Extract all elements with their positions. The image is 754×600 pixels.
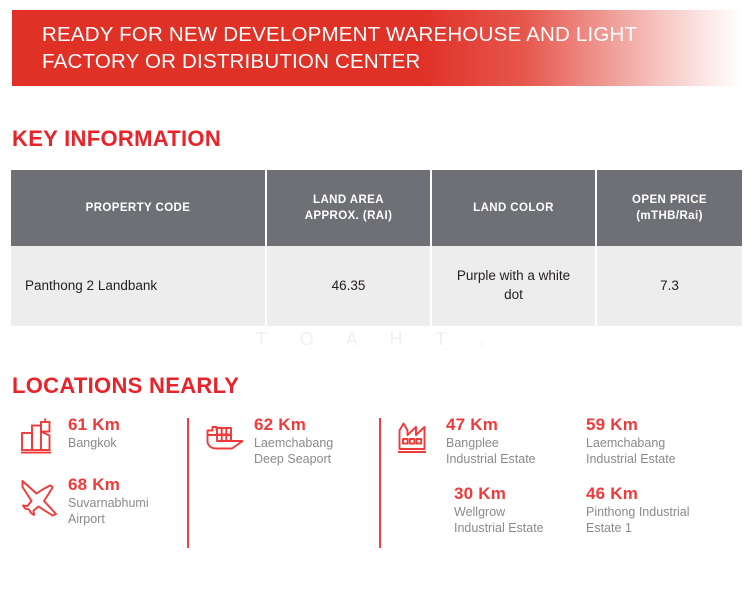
column-header-land-color: LAND COLOR [431, 170, 596, 246]
column-header-land-area: LAND AREA APPROX. (RAI) [266, 170, 431, 246]
cell-land-area: 46.35 [266, 246, 431, 326]
location-name: Suvarnabhumi Airport [68, 496, 149, 527]
locations-section: 61 Km Bangkok 68 Km Suvarnabhumi Airport [12, 414, 746, 564]
airplane-icon [18, 474, 68, 518]
location-entry-pinthong: 46 Km Pinthong Industrial Estate 1 [586, 483, 754, 536]
location-name: Laemchabang Industrial Estate [586, 436, 676, 467]
column-divider [379, 418, 381, 548]
cell-property-code: Panthong 2 Landbank [11, 246, 266, 326]
location-distance: 62 Km [254, 415, 333, 435]
location-entry-laemchabang-seaport: 62 Km Laemchabang Deep Seaport [204, 414, 369, 467]
banner-title: READY FOR NEW DEVELOPMENT WAREHOUSE AND … [12, 21, 702, 75]
location-name: Pinthong Industrial Estate 1 [586, 505, 690, 536]
location-text: 59 Km Laemchabang Industrial Estate [586, 414, 676, 467]
location-text: 47 Km Bangplee Industrial Estate [446, 414, 536, 467]
column-divider [187, 418, 189, 548]
city-skyline-icon [18, 414, 68, 458]
location-text: 61 Km Bangkok [68, 414, 120, 452]
location-text: 62 Km Laemchabang Deep Seaport [254, 414, 333, 467]
location-distance: 47 Km [446, 415, 536, 435]
cargo-ship-icon [204, 414, 254, 458]
location-entry-laemchabang-estate: 59 Km Laemchabang Industrial Estate [586, 414, 754, 467]
locations-column-3: 47 Km Bangplee Industrial Estate 30 Km W… [396, 414, 581, 552]
location-text: 68 Km Suvarnabhumi Airport [68, 474, 149, 527]
location-text: 46 Km Pinthong Industrial Estate 1 [586, 483, 690, 536]
locations-column-1: 61 Km Bangkok 68 Km Suvarnabhumi Airport [18, 414, 178, 543]
location-name: Bangkok [68, 436, 120, 452]
locations-column-2: 62 Km Laemchabang Deep Seaport [204, 414, 369, 483]
location-name: Wellgrow Industrial Estate [454, 505, 544, 536]
location-distance: 68 Km [68, 475, 149, 495]
key-information-table: PROPERTY CODE LAND AREA APPROX. (RAI) LA… [11, 170, 742, 326]
location-distance: 46 Km [586, 484, 690, 504]
location-entry-suvarnabhumi: 68 Km Suvarnabhumi Airport [18, 474, 178, 527]
location-distance: 59 Km [586, 415, 676, 435]
cell-land-color: Purple with a white dot [431, 246, 596, 326]
table-header-row: PROPERTY CODE LAND AREA APPROX. (RAI) LA… [11, 170, 742, 246]
location-entry-bangkok: 61 Km Bangkok [18, 414, 178, 458]
column-header-property-code: PROPERTY CODE [11, 170, 266, 246]
location-name: Laemchabang Deep Seaport [254, 436, 333, 467]
column-header-open-price: OPEN PRICE (mTHB/Rai) [596, 170, 742, 246]
location-entry-wellgrow: 30 Km Wellgrow Industrial Estate [396, 483, 581, 536]
location-entry-bangplee: 47 Km Bangplee Industrial Estate [396, 414, 581, 467]
key-information-heading: KEY INFORMATION [12, 126, 221, 152]
cell-open-price: 7.3 [596, 246, 742, 326]
header-banner: READY FOR NEW DEVELOPMENT WAREHOUSE AND … [12, 10, 742, 86]
location-text: 30 Km Wellgrow Industrial Estate [454, 483, 544, 536]
locations-nearly-heading: LOCATIONS NEARLY [12, 373, 239, 399]
locations-column-4: 59 Km Laemchabang Industrial Estate 46 K… [586, 414, 754, 552]
location-name: Bangplee Industrial Estate [446, 436, 536, 467]
watermark-text: T O A H T . [0, 329, 754, 350]
table-row: Panthong 2 Landbank 46.35 Purple with a … [11, 246, 742, 326]
location-distance: 30 Km [454, 484, 544, 504]
location-distance: 61 Km [68, 415, 120, 435]
factory-icon [396, 414, 446, 458]
property-info-page: READY FOR NEW DEVELOPMENT WAREHOUSE AND … [0, 0, 754, 600]
